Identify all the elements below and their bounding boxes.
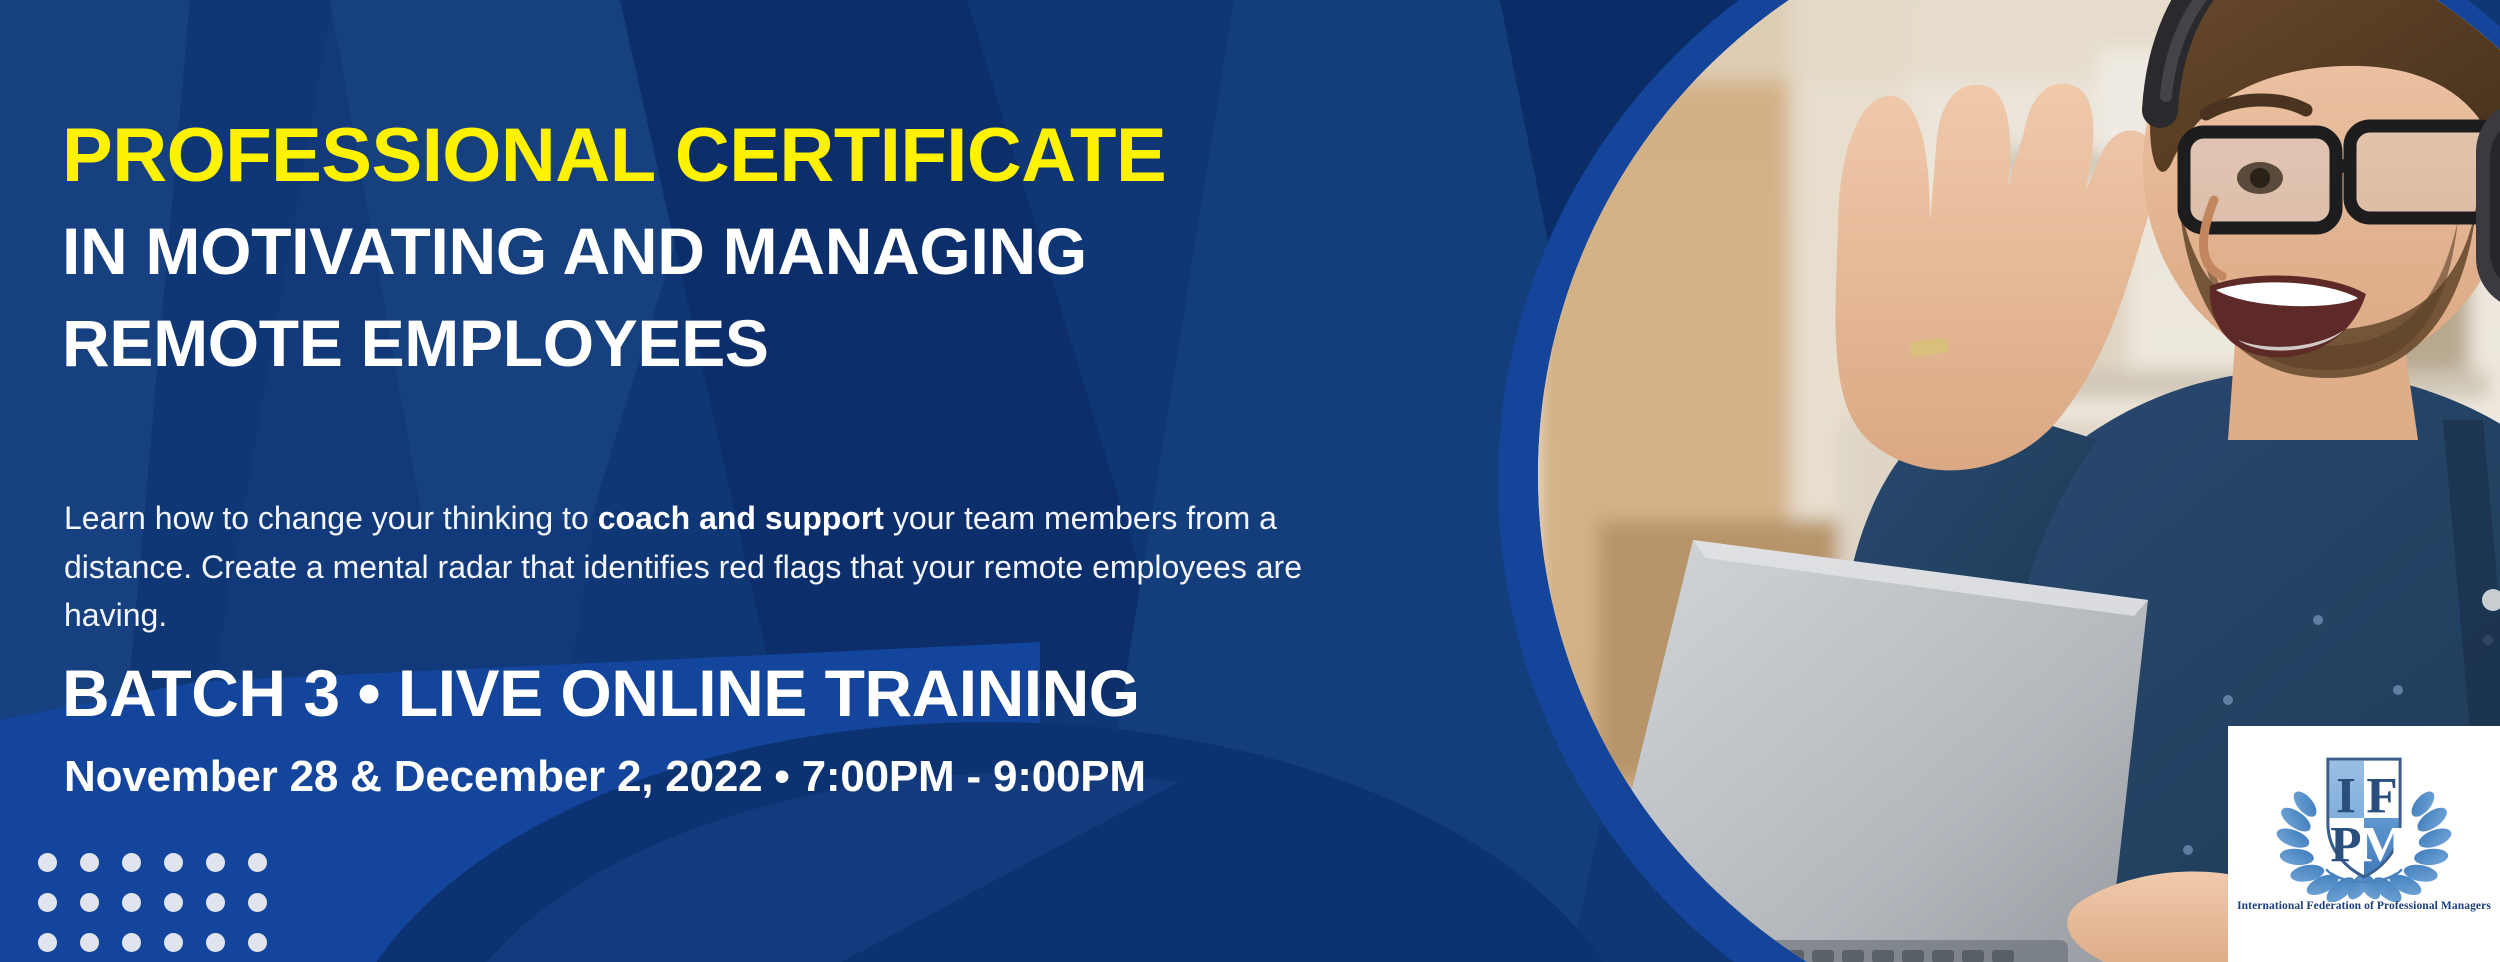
- batch-line: BATCH 3 • LIVE ONLINE TRAINING: [62, 660, 1140, 726]
- shield-letter-p: P: [2330, 817, 2361, 874]
- dot: [38, 853, 57, 872]
- ifpm-logo-card: I F P M International Federation of Prof…: [2228, 726, 2500, 962]
- dot: [38, 893, 57, 912]
- shield-shape: I F P M: [2326, 757, 2407, 881]
- shield-letter-f: F: [2366, 767, 2397, 824]
- shield-letter-i: I: [2336, 767, 2356, 824]
- description-part-1: Learn how to change your thinking to: [64, 500, 598, 536]
- shield-letter-m: M: [2359, 817, 2407, 874]
- headline-line-3: REMOTE EMPLOYEES: [62, 310, 769, 376]
- dot: [38, 933, 57, 952]
- promo-banner: PROFESSIONAL CERTIFICATE IN MOTIVATING A…: [0, 0, 2500, 962]
- date-line: November 28 & December 2, 2022 • 7:00PM …: [64, 755, 1146, 799]
- headline-kicker: PROFESSIONAL CERTIFICATE: [62, 118, 1166, 194]
- description-emphasis: coach and support: [598, 500, 884, 536]
- ifpm-logo-tagline: International Federation of Professional…: [2237, 900, 2491, 912]
- ifpm-shield-logo-icon: I F P M: [2269, 734, 2459, 902]
- headline-line-2: IN MOTIVATING AND MANAGING: [62, 218, 1087, 284]
- copy-block: PROFESSIONAL CERTIFICATE IN MOTIVATING A…: [62, 0, 1482, 962]
- description-paragraph: Learn how to change your thinking to coa…: [64, 494, 1364, 640]
